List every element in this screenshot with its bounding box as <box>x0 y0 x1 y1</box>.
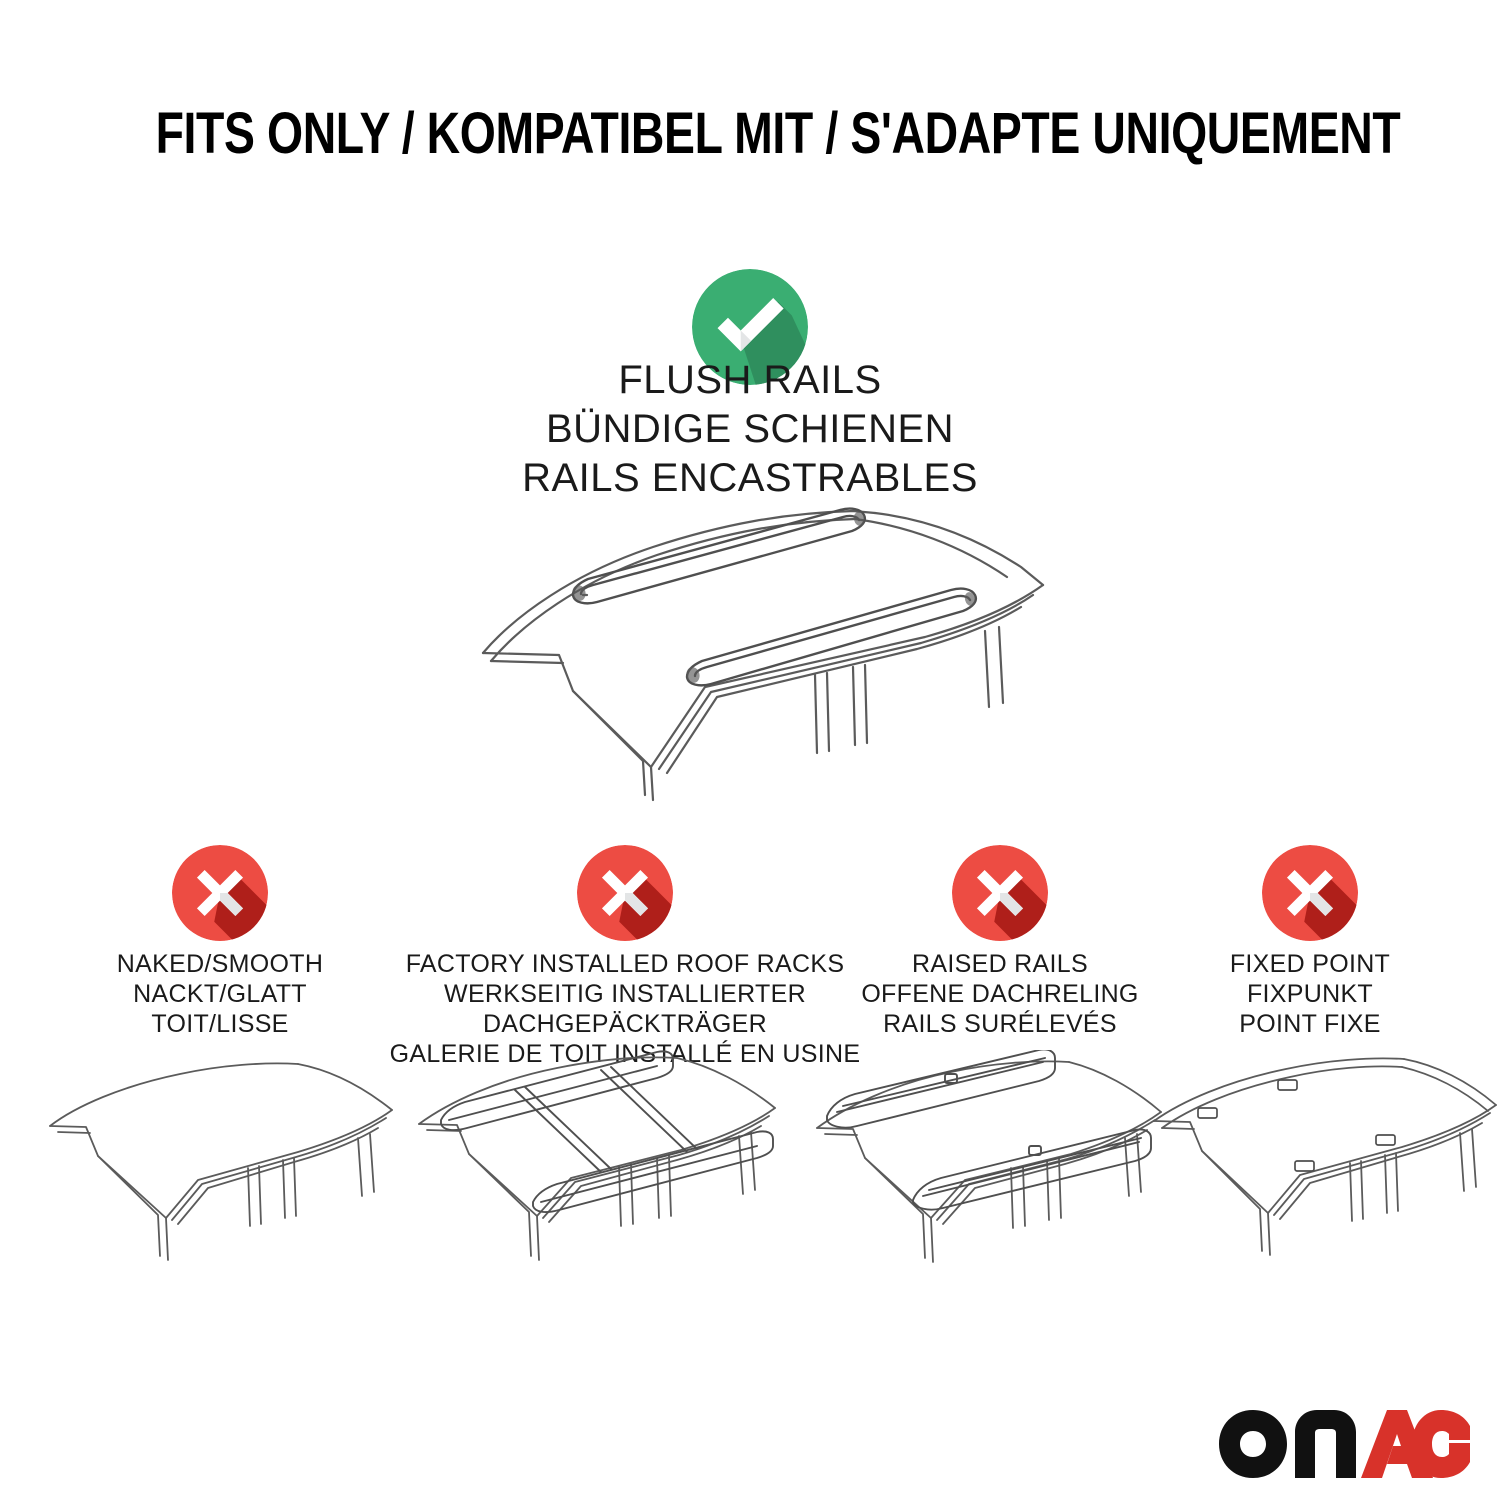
page-title-text: FITS ONLY / KOMPATIBEL MIT / S'ADAPTE UN… <box>156 104 1401 165</box>
fitment-compatibility-infographic: FITS ONLY / KOMPATIBEL MIT / S'ADAPTE UN… <box>0 0 1500 1500</box>
incompatible-caption: FIXED POINT FIXPUNKT POINT FIXE <box>1110 949 1500 1039</box>
compatible-heading: FLUSH RAILS BÜNDIGE SCHIENEN RAILS ENCAS… <box>350 356 1150 502</box>
caption-line-3: POINT FIXE <box>1110 1009 1500 1039</box>
car-roof-flush-rails-illustration <box>455 495 1055 805</box>
caption-line-2: FIXPUNKT <box>1110 979 1500 1009</box>
compatible-heading-line-1: FLUSH RAILS <box>350 356 1150 405</box>
car-roof-fixed-point-illustration <box>1140 1055 1500 1290</box>
x-circle-icon <box>577 845 673 941</box>
car-roof-factory-roof-racks-illustration <box>405 1050 835 1290</box>
x-circle-icon <box>1262 845 1358 941</box>
incompatible-section: NAKED/SMOOTH NACKT/GLATT TOIT/LISSE <box>0 845 1500 1315</box>
compatible-heading-line-2: BÜNDIGE SCHIENEN <box>350 405 1150 454</box>
car-roof-naked-smooth-illustration <box>40 1060 410 1290</box>
page-title: FITS ONLY / KOMPATIBEL MIT / S'ADAPTE UN… <box>0 104 1500 165</box>
omac-logo <box>1217 1408 1472 1480</box>
caption-line-1: FIXED POINT <box>1110 949 1500 979</box>
x-circle-icon <box>172 845 268 941</box>
x-circle-icon <box>952 845 1048 941</box>
